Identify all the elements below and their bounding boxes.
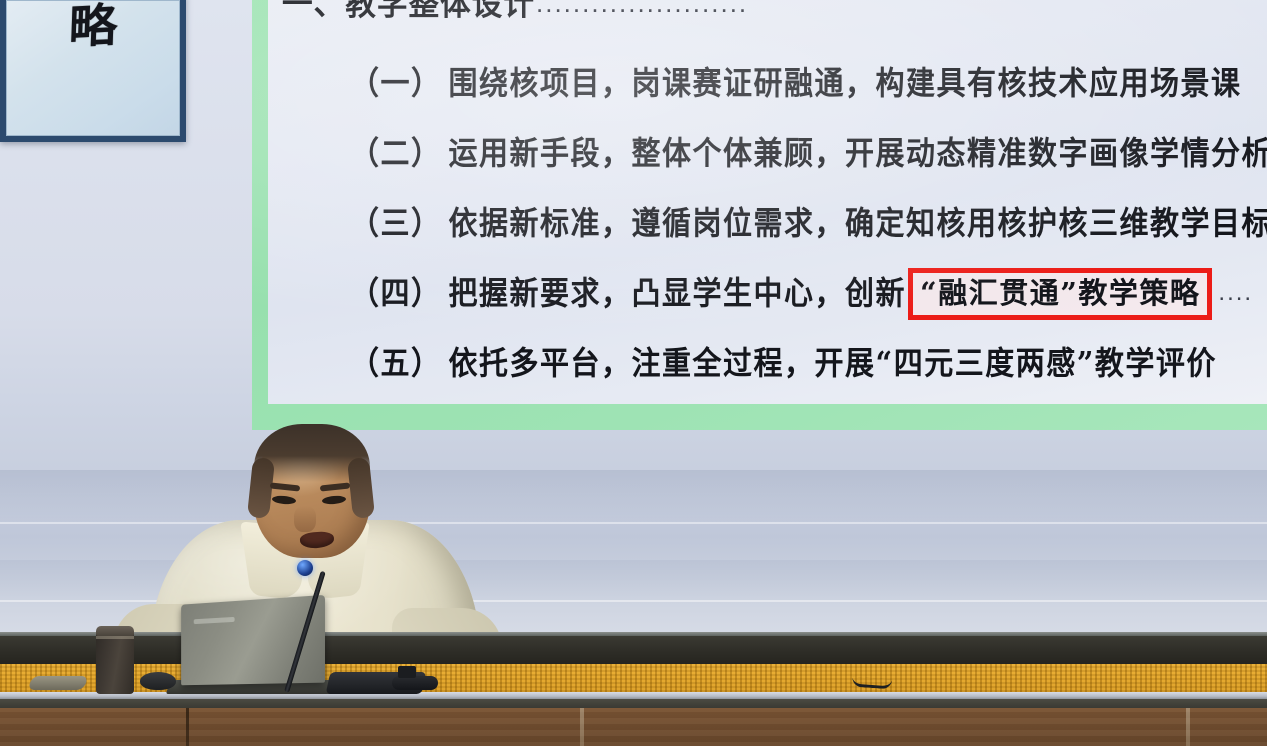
lecture-hall-photo: 略 一、教学整体设计 ....................... （一） 围…: [0, 0, 1267, 746]
bullet-4-prefix: 把握新要求，凸显学生中心，创新: [449, 274, 907, 311]
plaque-character: 略: [68, 2, 118, 50]
bullet-3-text: 依据新标准，遵循岗位需求，确定知核用核护核三维教学目标: [449, 204, 1267, 241]
desk-panel-seam-1: [186, 708, 189, 746]
thermos-ring: [96, 636, 134, 639]
desk-panel-seam-3: [1186, 708, 1190, 746]
slide-bullet-1: （一） 围绕核项目，岗课赛证研融通，构建具有核技术应用场景课: [350, 48, 1267, 118]
desk-shadow-band: [0, 699, 1267, 708]
bullet-3-number: （三）: [350, 204, 442, 241]
slide-heading-text: 一、教学整体设计: [282, 0, 535, 24]
desk-front-wood: [0, 708, 1267, 746]
microphone-indicator-light: [297, 560, 313, 576]
bullet-4-leader: ....: [1218, 279, 1253, 307]
presenter-nose: [294, 506, 316, 532]
thermos-lid: [96, 626, 134, 636]
slide-bullet-4: （四） 把握新要求，凸显学生中心，创新 “融汇贯通”教学策略 ....: [350, 258, 1267, 328]
slide-content-area: 一、教学整体设计 ....................... （一） 围绕核…: [268, 0, 1267, 404]
computer-mouse: [140, 672, 176, 690]
desk-small-device: [398, 666, 416, 678]
bullet-1-number: （一）: [350, 64, 442, 101]
slide-heading: 一、教学整体设计 .......................: [282, 0, 748, 24]
bullet-2-text: 运用新手段，整体个体兼顾，开展动态精准数字画像学情分析: [449, 134, 1267, 171]
slide-heading-leader: .......................: [536, 0, 748, 18]
bullet-2-number: （二）: [350, 134, 442, 171]
bullet-4-number: （四）: [350, 274, 442, 311]
slide-bullet-2: （二） 运用新手段，整体个体兼顾，开展动态精准数字画像学情分析: [350, 118, 1267, 188]
framed-calligraphy-plaque: 略: [0, 0, 186, 142]
bullet-5-text: 依托多平台，注重全过程，开展“四元三度两感”教学评价: [449, 344, 1217, 381]
microphone-base-block: [392, 676, 438, 690]
slide-bullet-list: （一） 围绕核项目，岗课赛证研融通，构建具有核技术应用场景课 （二） 运用新手段…: [350, 48, 1267, 398]
laptop-logo: [194, 617, 235, 624]
desk-tray: [27, 676, 88, 690]
desk-panel-seam-2: [580, 708, 584, 746]
projection-screen: 一、教学整体设计 ....................... （一） 围绕核…: [252, 0, 1267, 430]
slide-bullet-3: （三） 依据新标准，遵循岗位需求，确定知核用核护核三维教学目标: [350, 188, 1267, 258]
plaque-inner-mat: 略: [6, 0, 180, 136]
bullet-1-text: 围绕核项目，岗课赛证研融通，构建具有核技术应用场景课: [449, 64, 1242, 101]
slide-bullet-5: （五） 依托多平台，注重全过程，开展“四元三度两感”教学评价: [350, 328, 1267, 398]
bullet-4-highlight-text: “融汇贯通”教学策略: [920, 276, 1200, 310]
bullet-5-number: （五）: [350, 344, 442, 381]
red-highlight-box: “融汇贯通”教学策略: [908, 268, 1212, 320]
